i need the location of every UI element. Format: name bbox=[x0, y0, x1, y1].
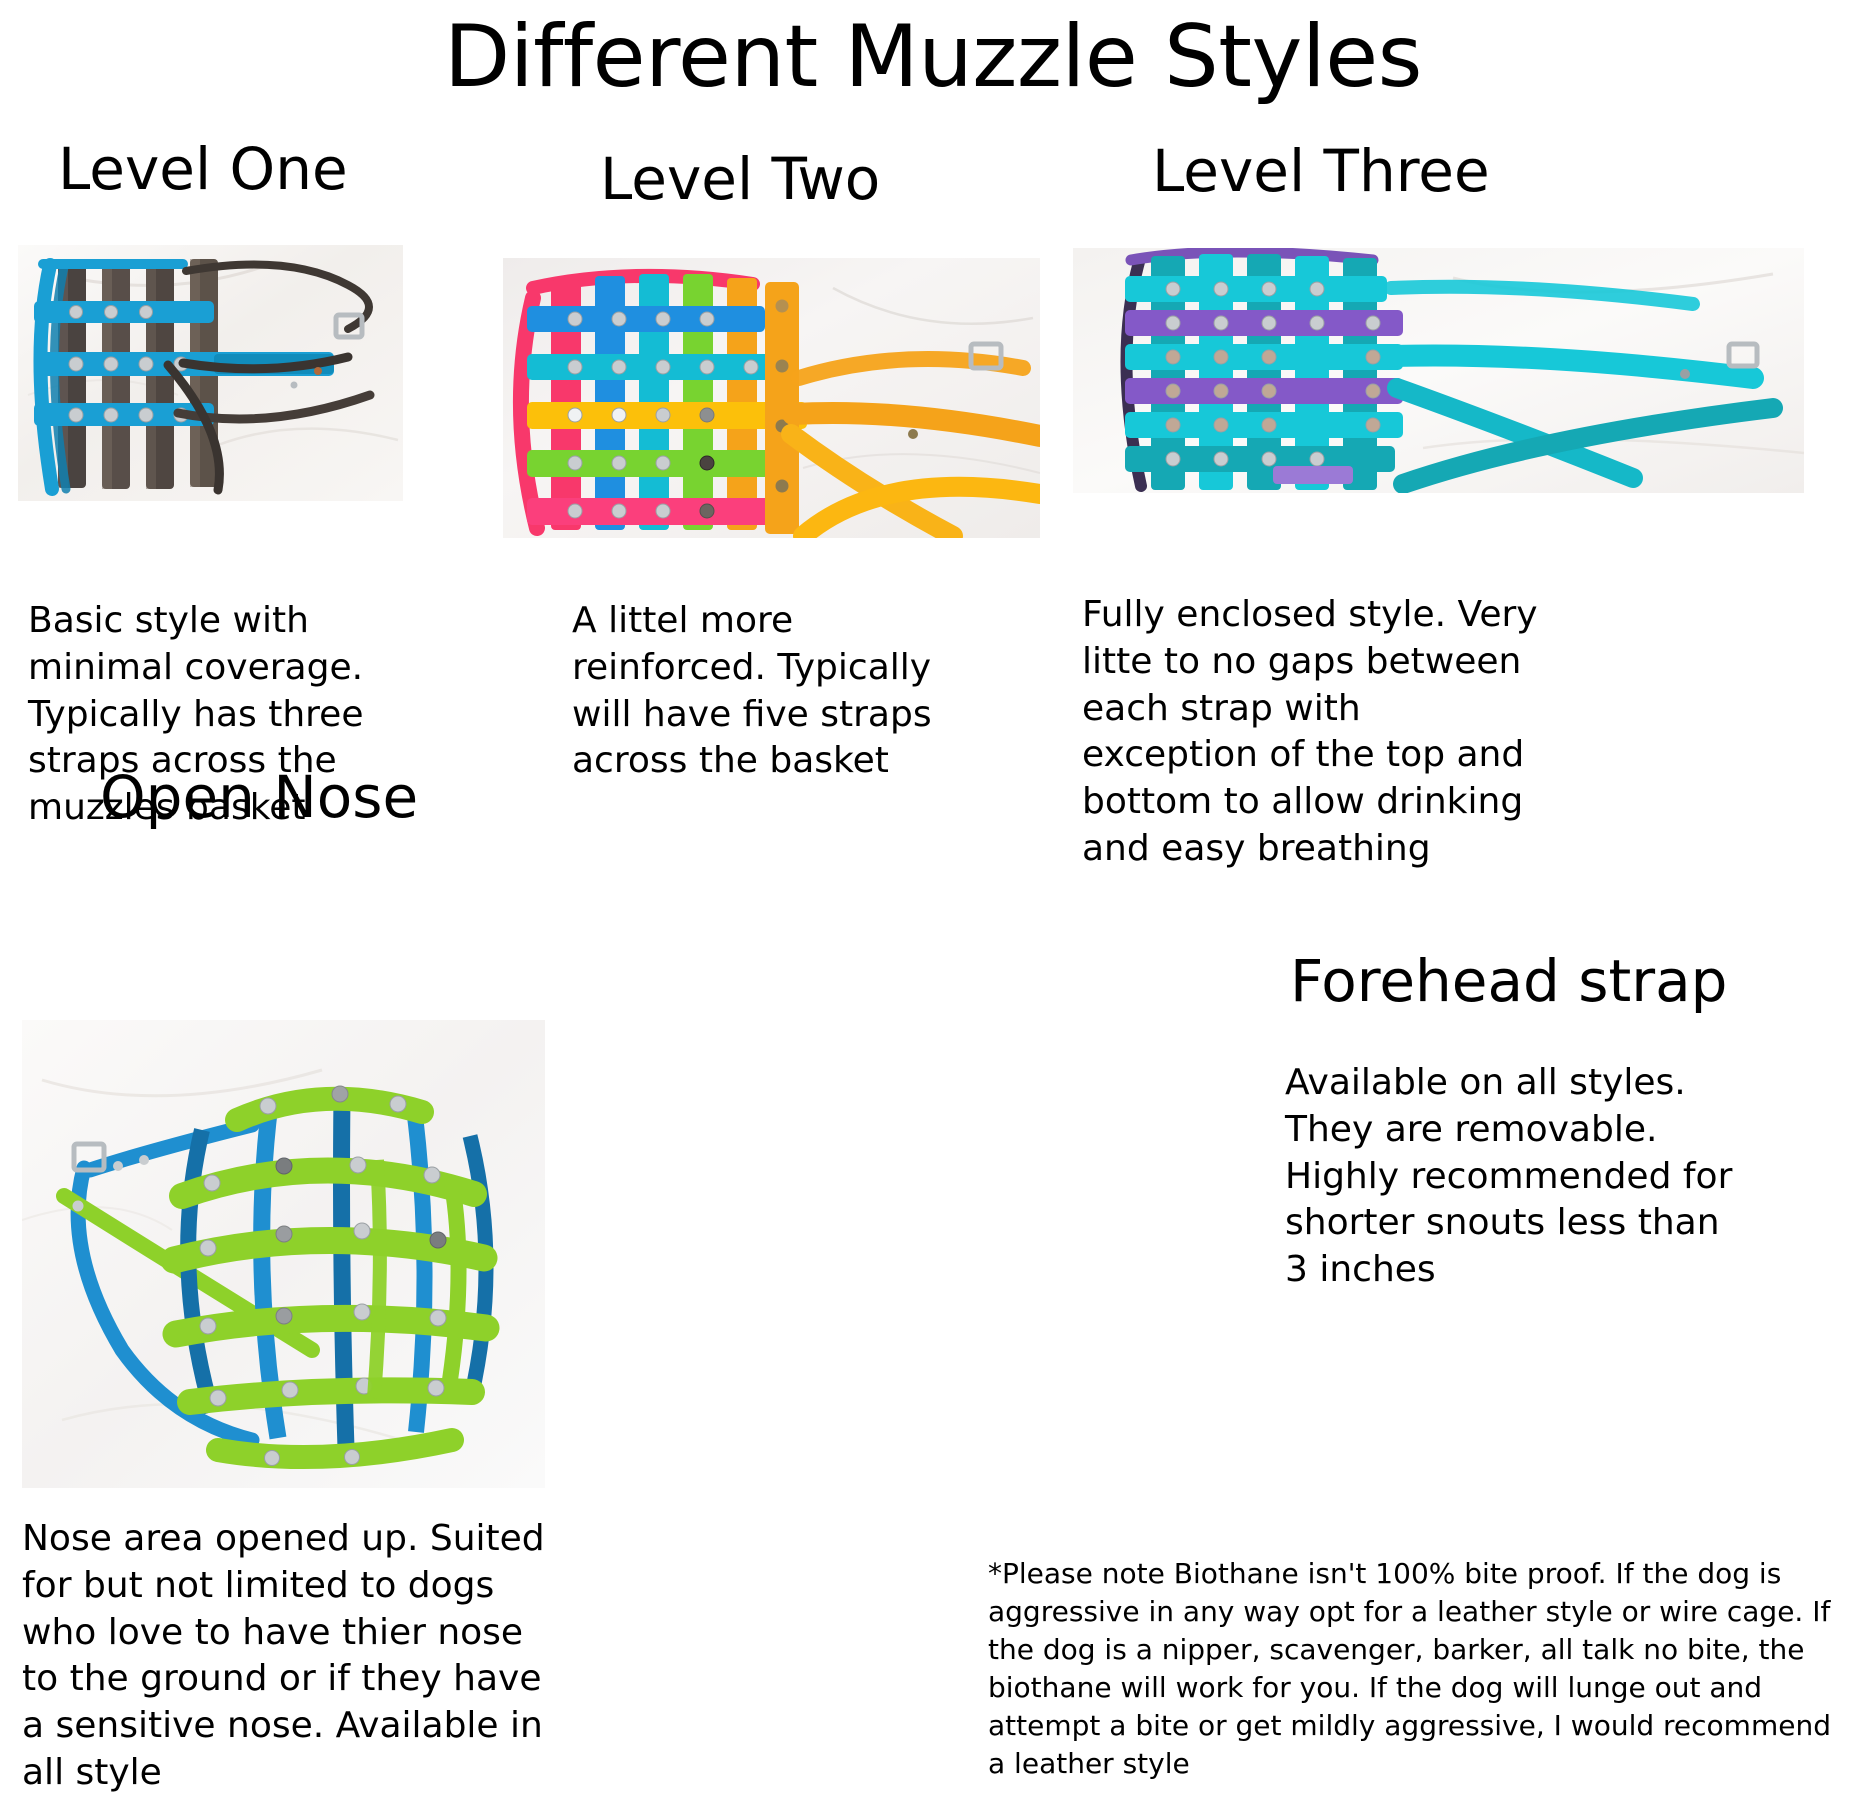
forehead-strap-description: Available on all styles. They are remova… bbox=[1285, 1060, 1735, 1294]
level-three-description: Fully enclosed style. Very litte to no g… bbox=[1082, 592, 1540, 873]
level-two-muzzle-photo bbox=[503, 258, 1040, 538]
level-three-heading: Level Three bbox=[1152, 142, 1490, 200]
level-three-muzzle-photo bbox=[1073, 248, 1804, 493]
forehead-strap-heading: Forehead strap bbox=[1290, 952, 1727, 1010]
open-nose-muzzle-photo bbox=[22, 1020, 545, 1488]
open-nose-heading: Open Nose bbox=[100, 768, 418, 826]
level-one-muzzle-photo bbox=[18, 245, 403, 501]
open-nose-description: Nose area opened up. Suited for but not … bbox=[22, 1516, 562, 1797]
level-two-description: A littel more reinforced. Typically will… bbox=[572, 598, 992, 785]
footnote-disclaimer: *Please note Biothane isn't 100% bite pr… bbox=[988, 1555, 1848, 1783]
page-title: Different Muzzle Styles bbox=[0, 14, 1866, 100]
level-one-heading: Level One bbox=[58, 140, 348, 198]
level-two-heading: Level Two bbox=[600, 150, 880, 208]
